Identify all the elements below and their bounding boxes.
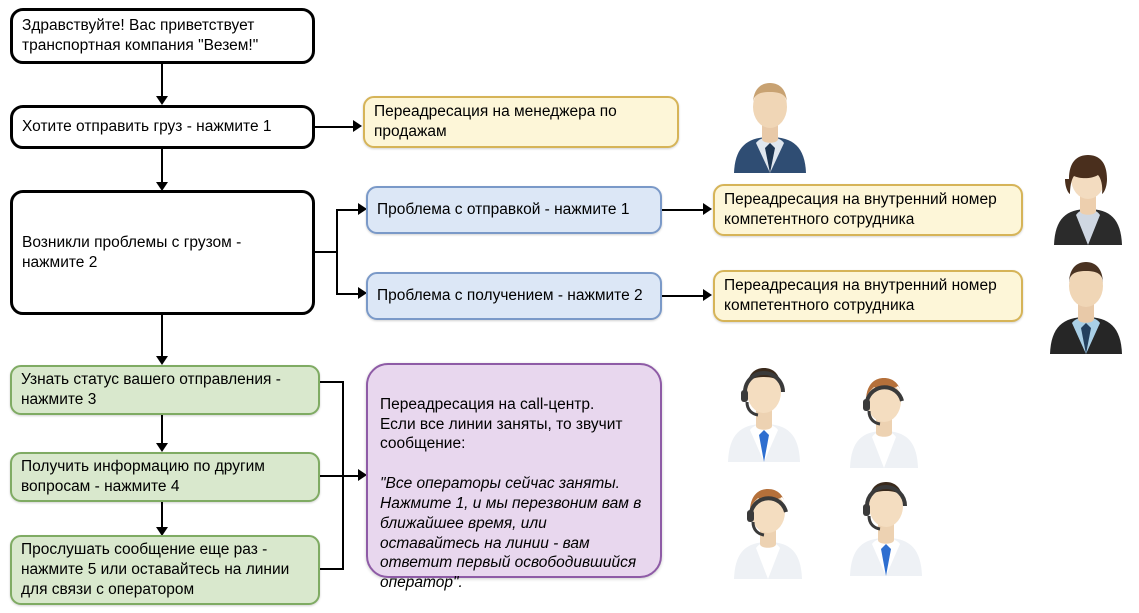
arrow-right-internal1 bbox=[703, 203, 712, 215]
node-sub-2-2[interactable]: Проблема с получением - нажмите 2 bbox=[366, 272, 662, 320]
businesswoman-black-blazer-icon bbox=[1042, 145, 1134, 245]
callcenter-quote-label: "Все операторы сейчас заняты. Нажмите 1,… bbox=[380, 475, 641, 591]
node-route-internal-2[interactable]: Переадресация на внутренний номер компет… bbox=[713, 270, 1023, 322]
node-route-sales-manager-label: Переадресация на менеджера по продажам bbox=[365, 102, 677, 142]
connector-sub1-to-internal1 bbox=[662, 209, 706, 211]
operator-male-2-avatar bbox=[838, 472, 934, 576]
call-operator-male-headset-icon bbox=[838, 472, 934, 576]
connector-option2-to-option3 bbox=[161, 315, 163, 359]
flowchart-canvas: Здравствуйте! Вас приветствует транспорт… bbox=[0, 0, 1139, 613]
connector-greeting-to-option1 bbox=[161, 64, 163, 98]
node-option-2-label: Возникли проблемы с грузом - нажмите 2 bbox=[13, 233, 312, 273]
node-option-3-label: Узнать статус вашего отправления - нажми… bbox=[12, 370, 318, 410]
arrow-down-option1 bbox=[156, 96, 168, 105]
arrow-down-option3 bbox=[156, 356, 168, 365]
connector-option3-stub bbox=[320, 381, 344, 383]
connector-option1-to-option2 bbox=[161, 149, 163, 185]
node-option-4-label: Получить информацию по другим вопросам -… bbox=[12, 457, 318, 497]
operator-female-2-avatar bbox=[722, 479, 814, 579]
connector-option2-stub bbox=[315, 251, 337, 253]
node-option-2[interactable]: Возникли проблемы с грузом - нажмите 2 bbox=[10, 190, 315, 315]
node-callcenter-text: Переадресация на call-центр. Если все ли… bbox=[368, 365, 660, 603]
node-greeting[interactable]: Здравствуйте! Вас приветствует транспорт… bbox=[10, 8, 315, 64]
connector-option1-to-sales bbox=[315, 126, 355, 128]
node-sub-2-2-label: Проблема с получением - нажмите 2 bbox=[368, 286, 660, 306]
node-option-5-label: Прослушать сообщение еще раз - нажмите 5… bbox=[12, 540, 318, 599]
node-option-5[interactable]: Прослушать сообщение еще раз - нажмите 5… bbox=[10, 535, 320, 605]
node-option-3[interactable]: Узнать статус вашего отправления - нажми… bbox=[10, 365, 320, 415]
arrow-down-option4 bbox=[156, 443, 168, 452]
businessman-black-suit-icon bbox=[1038, 252, 1134, 354]
connector-sub2-to-internal2 bbox=[662, 295, 706, 297]
businessman-navy-suit-icon bbox=[722, 73, 818, 173]
arrow-right-sales bbox=[353, 120, 362, 132]
node-option-4[interactable]: Получить информацию по другим вопросам -… bbox=[10, 452, 320, 502]
employee-female-avatar bbox=[1042, 145, 1134, 245]
node-route-sales-manager[interactable]: Переадресация на менеджера по продажам bbox=[363, 96, 679, 148]
node-option-1-label: Хотите отправить груз - нажмите 1 bbox=[13, 117, 312, 137]
node-option-1[interactable]: Хотите отправить груз - нажмите 1 bbox=[10, 105, 315, 149]
connector-green-to-purple bbox=[320, 475, 362, 477]
callcenter-intro-label: Переадресация на call-центр. Если все ли… bbox=[380, 396, 623, 453]
call-operator-male-headset-icon bbox=[716, 358, 812, 462]
connector-option5-stub bbox=[320, 568, 344, 570]
sales-manager-avatar bbox=[722, 73, 818, 173]
node-sub-2-1[interactable]: Проблема с отправкой - нажмите 1 bbox=[366, 186, 662, 234]
node-route-internal-1-label: Переадресация на внутренний номер компет… bbox=[715, 190, 1021, 230]
node-route-internal-1[interactable]: Переадресация на внутренний номер компет… bbox=[713, 184, 1023, 236]
call-operator-female-headset-icon bbox=[722, 479, 814, 579]
node-route-internal-2-label: Переадресация на внутренний номер компет… bbox=[715, 276, 1021, 316]
operator-female-1-avatar bbox=[838, 368, 930, 468]
call-operator-female-headset-icon bbox=[838, 368, 930, 468]
node-sub-2-1-label: Проблема с отправкой - нажмите 1 bbox=[368, 200, 660, 220]
connector-option2-trunk bbox=[336, 209, 338, 294]
operator-male-1-avatar bbox=[716, 358, 812, 462]
node-callcenter[interactable]: Переадресация на call-центр. Если все ли… bbox=[366, 363, 662, 578]
arrow-right-internal2 bbox=[703, 289, 712, 301]
employee-male-avatar bbox=[1038, 252, 1134, 354]
connector-option3-to-option4 bbox=[161, 415, 163, 445]
node-greeting-label: Здравствуйте! Вас приветствует транспорт… bbox=[13, 16, 312, 56]
connector-option4-to-option5 bbox=[161, 502, 163, 529]
